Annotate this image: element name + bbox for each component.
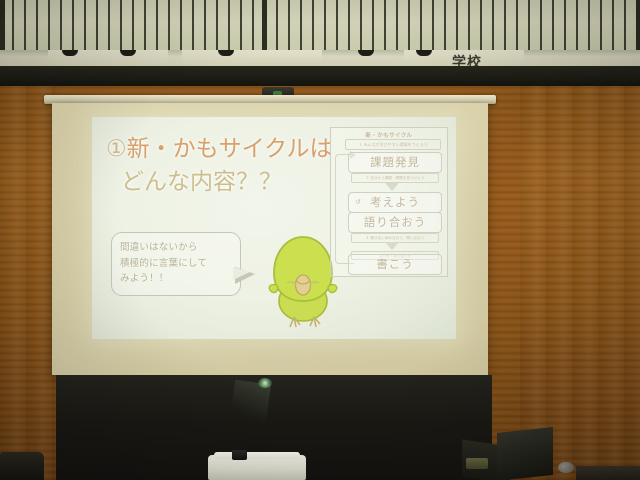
stage-light-spot <box>258 378 272 388</box>
diagram-step-1-label: 課題発見 <box>349 153 441 172</box>
window-mullion <box>636 0 640 52</box>
foreground-object-left <box>0 452 44 480</box>
diagram-step-3: 語り合おう <box>348 212 442 233</box>
ceiling-beam <box>0 66 640 88</box>
projector-lens-icon <box>232 450 247 460</box>
slide-title-number: ① <box>106 136 127 162</box>
window-mullion <box>0 0 5 52</box>
wood-wall-right <box>520 86 640 480</box>
diagram-arrow-1 <box>385 183 399 191</box>
foreground-bench-right <box>576 466 640 480</box>
speech-bubble: 間違いはないから 積極的に言葉にして みよう！！ <box>111 232 241 296</box>
diagram-title: 新・かもサイクル <box>331 131 447 139</box>
diagram-repeat-icon: ↺ <box>355 198 361 206</box>
vertical-blinds <box>0 0 640 52</box>
diagram-step-4-label: 書こう <box>349 255 441 274</box>
slide-title-line1: 新・かもサイクルは <box>127 136 333 162</box>
wood-wall-left <box>0 86 60 480</box>
laptop-screen <box>497 427 553 480</box>
diagram-step-3-label: 語り合おう <box>349 213 441 232</box>
cycle-diagram-panel: 新・かもサイクル １ みんなが学びやすい環境をつくろう 課題発見 ２ 自分から課… <box>330 127 448 277</box>
diagram-arrow-2 <box>385 242 399 250</box>
speech-bubble-text: 間違いはないから 積極的に言葉にして みよう！！ <box>120 240 238 287</box>
speech-bubble-tail-inner <box>233 267 250 280</box>
diagram-step-2: 考えよう <box>348 192 442 213</box>
projector-top-panel <box>214 452 300 459</box>
laptop-keyboard-highlight <box>466 458 488 469</box>
window-mullion <box>262 0 267 52</box>
diagram-step-1: 課題発見 <box>348 152 442 173</box>
diagram-step-4: 書こう <box>348 254 442 275</box>
photo-scene: 学校 ①新・かもサイクルは どんな内容？？ 間違いはないから 積極的に言葉にして… <box>0 0 640 480</box>
diagram-step-1-caption: ２ 自分から課題・問題を見つけよう <box>351 173 439 183</box>
projected-slide: ①新・かもサイクルは どんな内容？？ 間違いはないから 積極的に言葉にして みよ… <box>92 117 456 339</box>
diagram-subtitle: １ みんなが学びやすい環境をつくろう <box>345 139 441 150</box>
speech-line-3: みよう！！ <box>120 271 238 287</box>
diagram-step-2-label: 考えよう <box>349 193 441 212</box>
mouse-device <box>558 462 574 473</box>
speech-line-1: 間違いはないから <box>120 240 238 256</box>
speech-line-2: 積極的に言葉にして <box>120 256 238 272</box>
